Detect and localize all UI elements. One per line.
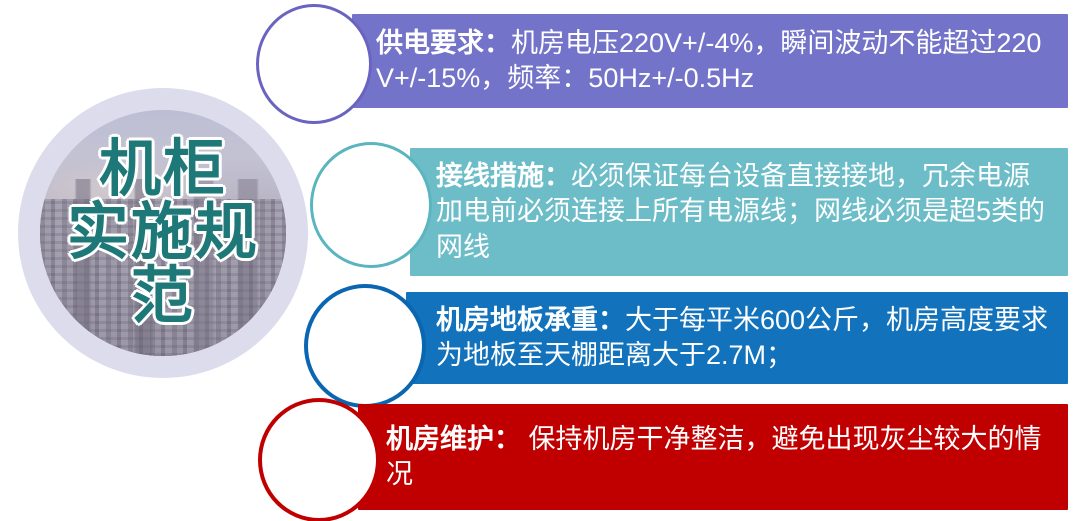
band-lead-1: 供电要求： — [376, 28, 511, 58]
content-band-2: 接线措施：必须保证每台设备直接接地，冗余电源加电前必须连接上所有电源线；网线必须… — [410, 148, 1068, 276]
title-line-3: 范 — [67, 265, 259, 328]
bullet-circle-4 — [258, 398, 380, 521]
content-band-4: 机房维护： 保持机房干净整洁，避免出现灰尘较大的情况 — [358, 404, 1068, 510]
band-text-1: 供电要求：机房电压220V+/-4%，瞬间波动不能超过220V+/-15%，频率… — [352, 26, 1068, 96]
content-band-1: 供电要求：机房电压220V+/-4%，瞬间波动不能超过220V+/-15%，频率… — [352, 14, 1068, 108]
band-lead-4: 机房维护： — [386, 424, 521, 454]
band-text-3: 机房地板承重：大于每平米600公斤，机房高度要求为地板至天棚距离大于2.7M； — [406, 303, 1068, 373]
content-band-3: 机房地板承重：大于每平米600公斤，机房高度要求为地板至天棚距离大于2.7M； — [406, 292, 1068, 384]
band-text-4: 机房维护： 保持机房干净整洁，避免出现灰尘较大的情况 — [358, 422, 1068, 492]
bullet-circle-2 — [310, 142, 432, 268]
title-text: 机柜 实施规 范 — [67, 138, 259, 328]
bullet-circle-3 — [304, 284, 426, 408]
band-text-2: 接线措施：必须保证每台设备直接接地，冗余电源加电前必须连接上所有电源线；网线必须… — [410, 159, 1068, 264]
title-badge: 机柜 实施规 范 — [18, 88, 308, 378]
band-lead-3: 机房地板承重： — [436, 305, 625, 335]
bullet-circle-1 — [256, 4, 372, 124]
infographic-canvas: 机柜 实施规 范 供电要求：机房电压220V+/-4%，瞬间波动不能超过220V… — [0, 0, 1080, 521]
title-line-1: 机柜 — [67, 138, 259, 201]
title-line-2: 实施规 — [67, 201, 259, 264]
band-lead-2: 接线措施： — [436, 161, 571, 191]
